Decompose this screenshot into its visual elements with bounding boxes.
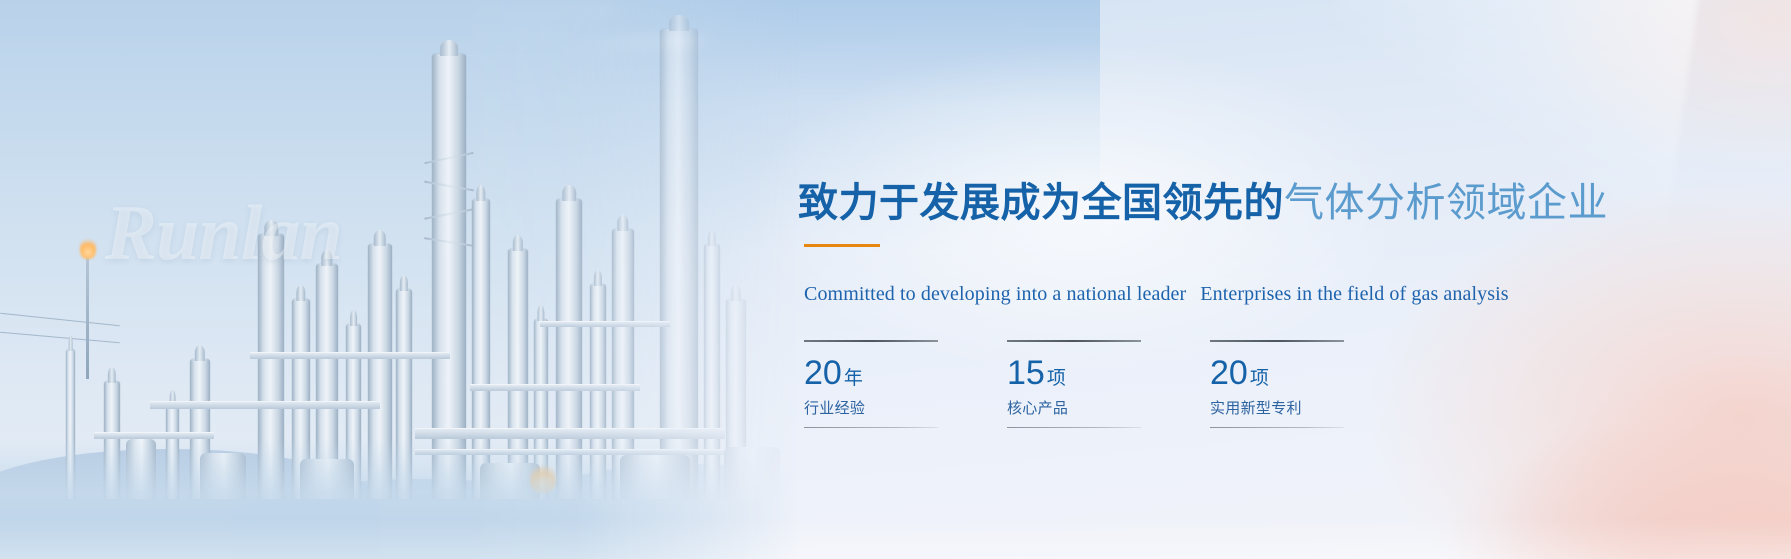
stat-top-rule xyxy=(1007,340,1141,342)
flare-stack xyxy=(86,249,89,379)
refinery-photo: Runlan xyxy=(0,0,800,559)
stat-number: 20 xyxy=(804,354,842,392)
stat-label: 行业经验 xyxy=(804,397,938,418)
power-line xyxy=(0,313,119,327)
stat-top-rule xyxy=(1210,340,1344,342)
headline-light: 气体分析领域企业 xyxy=(1284,181,1608,225)
stats-row: 20年 行业经验 15项 核心产品 20项 实用新型专利 xyxy=(804,340,1344,428)
ground-haze xyxy=(0,439,800,559)
stat-unit: 年 xyxy=(844,368,863,389)
pipe-rack xyxy=(250,352,450,359)
pipe-bridge xyxy=(415,428,725,439)
power-line xyxy=(0,332,120,343)
stat-bottom-rule xyxy=(804,427,938,428)
stat-number: 20 xyxy=(1210,354,1248,392)
headline-strong: 致力于发展成为全国领先的 xyxy=(798,181,1284,225)
stat-item-experience: 20年 行业经验 xyxy=(804,340,938,428)
stat-label: 实用新型专利 xyxy=(1210,397,1344,418)
pipe-rack xyxy=(94,432,214,439)
stat-item-core-products: 15项 核心产品 xyxy=(1007,340,1141,428)
stat-item-patents: 20项 实用新型专利 xyxy=(1210,340,1344,428)
subtitle-part-1: Committed to developing into a national … xyxy=(804,283,1186,305)
stat-value: 20项 xyxy=(1210,354,1344,393)
stat-bottom-rule xyxy=(1210,427,1344,428)
pipe-rack xyxy=(540,321,670,327)
pipe-rack xyxy=(470,384,640,391)
headline: 致力于发展成为全国领先的气体分析领域企业 xyxy=(798,179,1608,227)
stat-value: 20年 xyxy=(804,354,938,393)
orange-divider xyxy=(804,244,880,247)
stat-label: 核心产品 xyxy=(1007,397,1141,418)
stat-bottom-rule xyxy=(1007,427,1141,428)
stat-number: 15 xyxy=(1007,354,1045,392)
banner-content: 致力于发展成为全国领先的气体分析领域企业 Committed to develo… xyxy=(798,0,1498,559)
stat-unit: 项 xyxy=(1047,368,1066,389)
flare-flame xyxy=(80,237,96,259)
pipe-rack xyxy=(150,401,380,409)
subtitle: Committed to developing into a national … xyxy=(804,280,1509,308)
hero-banner: Runlan 致力于发展成为全国领先的气体分析领域企业 Committed to… xyxy=(0,0,1791,559)
stat-top-rule xyxy=(804,340,938,342)
subtitle-part-2: Enterprises in the field of gas analysis xyxy=(1200,283,1508,305)
stat-unit: 项 xyxy=(1250,368,1269,389)
stat-value: 15项 xyxy=(1007,354,1141,393)
